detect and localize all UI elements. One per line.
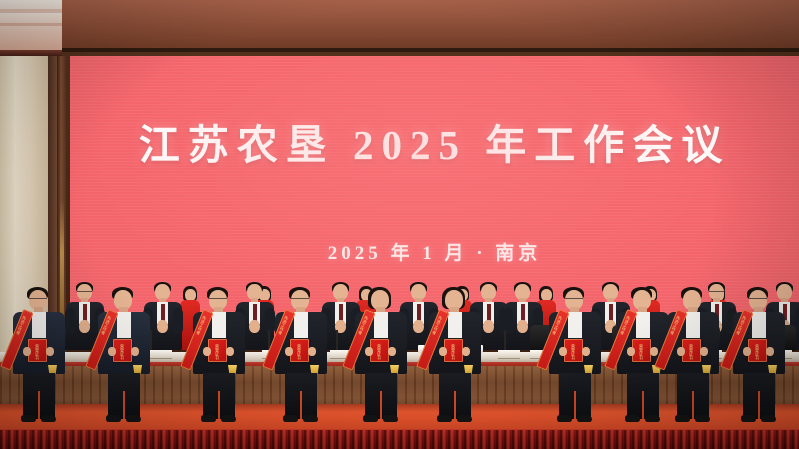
awardee-hand-left <box>365 347 373 356</box>
certificate-text: 荣誉证书 <box>639 344 644 360</box>
microphone <box>504 330 506 352</box>
conference-title: 江苏农垦 2025 年工作会议 <box>70 111 799 171</box>
awardee-shoe-right <box>695 415 710 422</box>
leg-gap <box>758 391 760 419</box>
glasses-icon <box>749 298 767 301</box>
awardee-shoe-left <box>625 415 640 422</box>
awardee-shoe-left <box>741 415 756 422</box>
awardee-shirt <box>752 312 766 338</box>
stage-skirt <box>0 430 799 449</box>
awardee-hand-left <box>203 347 211 356</box>
glasses-icon <box>565 298 583 301</box>
applauding-hands <box>483 320 494 333</box>
awardee-shoe-left <box>675 415 690 422</box>
leg-gap <box>380 391 382 419</box>
glasses-icon <box>77 291 92 294</box>
awardee-hand-right <box>462 347 470 356</box>
glasses-icon <box>209 298 227 301</box>
awardee-hand-left <box>627 347 635 356</box>
awardee-10: 先进工作者荣誉证书 <box>730 287 788 429</box>
awardee-hand-left <box>23 347 31 356</box>
awardee-shirt <box>448 312 462 338</box>
conference-photo: 江苏农垦 2025 年工作会议 2025 年 1 月 · 南京 先进工作者荣誉证… <box>0 0 799 449</box>
applauding-hands <box>249 320 260 333</box>
awardee-hand-right <box>650 347 658 356</box>
awardee-shoe-right <box>383 415 398 422</box>
leg-gap <box>123 391 125 419</box>
certificate-text: 荣誉证书 <box>755 344 760 360</box>
awardee-shirt <box>636 312 650 338</box>
awardee-shoe-right <box>221 415 236 422</box>
awardee-hand-right <box>582 347 590 356</box>
certificate-text: 荣誉证书 <box>35 344 40 360</box>
leg-gap <box>300 391 302 419</box>
leg-gap <box>642 391 644 419</box>
awardee-shirt <box>686 312 700 338</box>
awardee-hand-left <box>108 347 116 356</box>
applauding-hands <box>79 320 90 333</box>
leg-gap <box>692 391 694 419</box>
awardee-hand-left <box>559 347 567 356</box>
awardee-shirt <box>117 312 131 338</box>
awardee-2: 先进工作者荣誉证书 <box>95 287 153 429</box>
awardee-shirt <box>568 312 582 338</box>
official-arm-right <box>173 308 183 334</box>
awardee-hand-right <box>226 347 234 356</box>
awardee-1: 先进工作者荣誉证书 <box>10 287 68 429</box>
microphone <box>336 330 338 352</box>
awardee-hand-right <box>700 347 708 356</box>
awardee-shoe-left <box>283 415 298 422</box>
awardee-shoe-left <box>437 415 452 422</box>
awardee-shoe-right <box>303 415 318 422</box>
certificate-text: 荣誉证书 <box>689 344 694 360</box>
awardee-hand-right <box>308 347 316 356</box>
awardee-7: 先进工作者荣誉证书 <box>546 287 604 429</box>
awardee-shoe-right <box>577 415 592 422</box>
screen-header-trim <box>62 0 799 50</box>
awardee-hand-right <box>131 347 139 356</box>
applauding-hands <box>517 320 528 333</box>
certificate-text: 荣誉证书 <box>215 344 220 360</box>
glasses-icon <box>291 298 309 301</box>
awardee-shoe-left <box>21 415 36 422</box>
awardee-shoe-right <box>645 415 660 422</box>
leg-gap <box>574 391 576 419</box>
awardee-hand-left <box>439 347 447 356</box>
awardee-shoe-left <box>363 415 378 422</box>
awardee-6: 先进工作者荣誉证书 <box>426 287 484 429</box>
awardee-shoe-right <box>126 415 141 422</box>
certificate-text: 荣誉证书 <box>120 344 125 360</box>
leg-gap <box>38 391 40 419</box>
leg-gap <box>454 391 456 419</box>
awardee-hand-right <box>388 347 396 356</box>
applauding-hands <box>157 320 168 333</box>
awardee-4: 先进工作者荣誉证书 <box>272 287 330 429</box>
awardee-shoe-left <box>201 415 216 422</box>
glasses-icon <box>29 298 47 301</box>
awardee-9: 先进工作者荣誉证书 <box>664 287 722 429</box>
awardee-shoe-left <box>106 415 121 422</box>
nameplate <box>150 350 172 359</box>
awardee-hand-right <box>766 347 774 356</box>
awardee-hand-right <box>46 347 54 356</box>
awardee-shirt <box>32 312 46 338</box>
certificate-text: 荣誉证书 <box>451 344 456 360</box>
certificate-text: 荣誉证书 <box>571 344 576 360</box>
applauding-hands <box>413 320 424 333</box>
awardee-5: 先进工作者荣誉证书 <box>352 287 410 429</box>
awardee-shoe-left <box>557 415 572 422</box>
awardee-shirt <box>294 312 308 338</box>
nameplate <box>498 350 520 359</box>
awardee-shoe-right <box>761 415 776 422</box>
awardee-shoe-right <box>41 415 56 422</box>
conference-subtitle: 2025 年 1 月 · 南京 <box>70 238 799 265</box>
leg-gap <box>218 391 220 419</box>
awardee-3: 先进工作者荣誉证书 <box>190 287 248 429</box>
awardee-hand-left <box>743 347 751 356</box>
awardee-shirt <box>212 312 226 338</box>
awardee-shirt <box>374 312 388 338</box>
certificate-text: 荣誉证书 <box>297 344 302 360</box>
awardee-hand-left <box>677 347 685 356</box>
awardee-hand-left <box>285 347 293 356</box>
certificate-text: 荣誉证书 <box>377 344 382 360</box>
awardee-shoe-right <box>457 415 472 422</box>
